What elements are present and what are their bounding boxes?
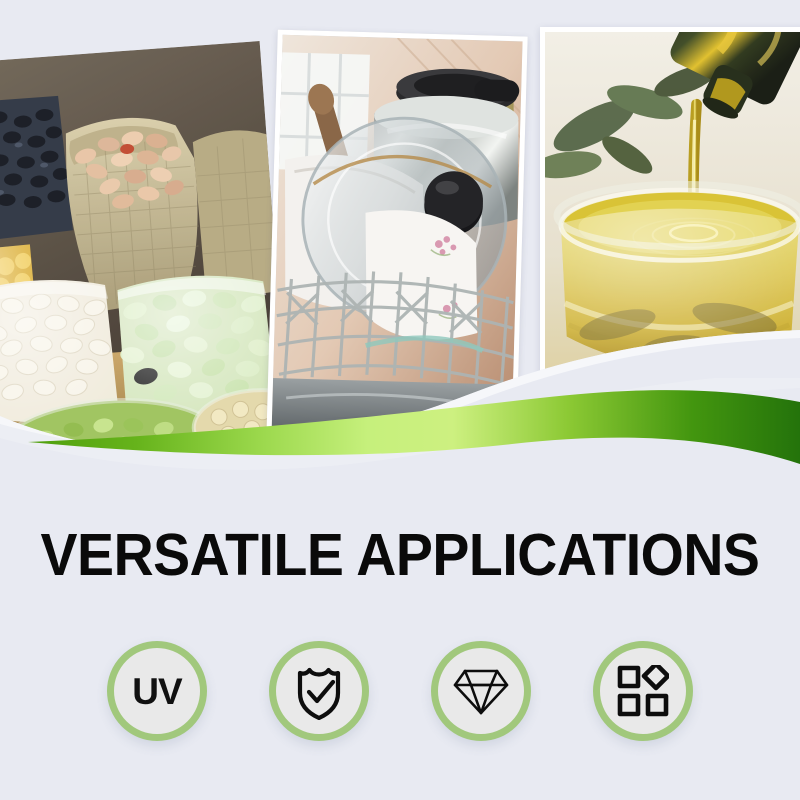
olive-oil-photo-art [545, 32, 800, 437]
photo-collage [0, 0, 800, 470]
olive-oil-photo [540, 27, 800, 442]
dishrack-photo [266, 30, 527, 449]
feature-badge-row: UV [0, 635, 800, 747]
shield-check-icon [292, 662, 346, 720]
shield-badge[interactable] [269, 641, 369, 741]
diamond-icon [453, 665, 509, 717]
dishrack-photo-art [271, 35, 522, 444]
versatile-applications-banner: VERSATILE APPLICATIONS UV [0, 0, 800, 800]
categories-badge[interactable] [593, 641, 693, 741]
page-title: VERSATILE APPLICATIONS [24, 523, 776, 587]
uv-text-icon: UV [132, 673, 181, 710]
legumes-photo [0, 41, 290, 470]
diamond-badge[interactable] [431, 641, 531, 741]
legumes-photo-art [0, 41, 290, 470]
grid-shapes-icon [617, 665, 669, 717]
uv-badge[interactable]: UV [107, 641, 207, 741]
